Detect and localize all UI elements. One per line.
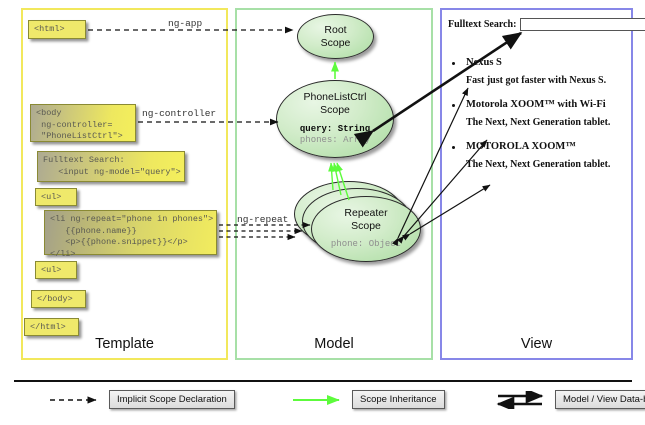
- legend-label-implicit-scope: Implicit Scope Declaration: [109, 390, 235, 409]
- scope-property-query: query: String: [300, 124, 370, 136]
- scope-property-phones: phones: Array: [300, 135, 370, 147]
- code-box-html-open: <html>: [28, 20, 86, 39]
- view-search-row: Fulltext Search:: [448, 18, 628, 31]
- view-search-label: Fulltext Search:: [448, 19, 516, 30]
- scope-property-phone: phone: Object: [331, 239, 401, 251]
- phonelistctrl-scope-node: PhoneListCtrl Scope query: String phones…: [276, 80, 394, 158]
- code-box-li-ng-repeat: <li ng-repeat="phone in phones"> {{phone…: [44, 210, 217, 255]
- phone-name: Motorola XOOM™ with Wi-Fi: [466, 99, 628, 110]
- panel-view-label: View: [442, 336, 631, 352]
- green-arrow-icon: [291, 391, 345, 409]
- code-box-ul-open: <ul>: [35, 188, 77, 206]
- list-item: MOTOROLA XOOM™ The Next, Next Generation…: [448, 141, 628, 170]
- panel-template-label: Template: [23, 336, 226, 352]
- legend-entry-data-binding: Model / View Data-binding: [494, 390, 645, 409]
- legend-label-data-binding: Model / View Data-binding: [555, 390, 645, 409]
- list-bullet-icon: [452, 104, 455, 107]
- legend-divider: [14, 380, 632, 382]
- fulltext-search-input[interactable]: [520, 18, 645, 31]
- list-item: Nexus S Fast just got faster with Nexus …: [448, 57, 628, 86]
- phone-snippet: Fast just got faster with Nexus S.: [466, 75, 628, 86]
- phone-list: Nexus S Fast just got faster with Nexus …: [448, 57, 628, 170]
- code-box-body-close: </body>: [31, 290, 86, 308]
- legend: Implicit Scope Declaration Scope Inherit…: [14, 390, 632, 418]
- double-arrow-icon: [494, 391, 548, 409]
- dashed-arrow-icon: [48, 391, 102, 409]
- phone-snippet: The Next, Next Generation tablet.: [466, 159, 628, 170]
- phonelistctrl-scope-title-line2: Scope: [320, 104, 350, 117]
- repeater-scope-title-line1: Repeater: [344, 207, 387, 220]
- code-box-search-input: Fulltext Search: <input ng-model="query"…: [37, 151, 185, 182]
- phone-snippet: The Next, Next Generation tablet.: [466, 117, 628, 128]
- legend-label-scope-inheritance: Scope Inheritance: [352, 390, 445, 409]
- root-scope-title-line2: Scope: [321, 37, 351, 50]
- legend-entry-scope-inheritance: Scope Inheritance: [291, 390, 445, 409]
- legend-entry-implicit-scope: Implicit Scope Declaration: [48, 390, 235, 409]
- view-rendered-output: Fulltext Search: Nexus S Fast just got f…: [448, 18, 628, 183]
- code-box-body-open: <body ng-controller= "PhoneListCtrl">: [30, 104, 136, 142]
- list-item: Motorola XOOM™ with Wi-Fi The Next, Next…: [448, 99, 628, 128]
- repeater-scope-node: Repeater Scope phone: Object: [311, 196, 421, 262]
- edge-label-ng-app: ng-app: [168, 18, 202, 29]
- phonelistctrl-scope-title-line1: PhoneListCtrl: [303, 91, 366, 104]
- panel-model-label: Model: [237, 336, 431, 352]
- root-scope-node: Root Scope: [297, 14, 374, 59]
- angularjs-architecture-diagram: Template Model View <html> <body ng-cont…: [0, 0, 645, 425]
- code-box-html-close: </html>: [24, 318, 79, 336]
- phone-name: MOTOROLA XOOM™: [466, 141, 628, 152]
- edge-label-ng-controller: ng-controller: [142, 108, 216, 119]
- root-scope-title-line1: Root: [324, 24, 346, 37]
- code-box-ul-close: <ul>: [35, 261, 77, 279]
- repeater-scope-title-line2: Scope: [351, 220, 381, 233]
- phone-name: Nexus S: [466, 57, 628, 68]
- list-bullet-icon: [452, 146, 455, 149]
- edge-label-ng-repeat: ng-repeat: [237, 214, 288, 225]
- list-bullet-icon: [452, 62, 455, 65]
